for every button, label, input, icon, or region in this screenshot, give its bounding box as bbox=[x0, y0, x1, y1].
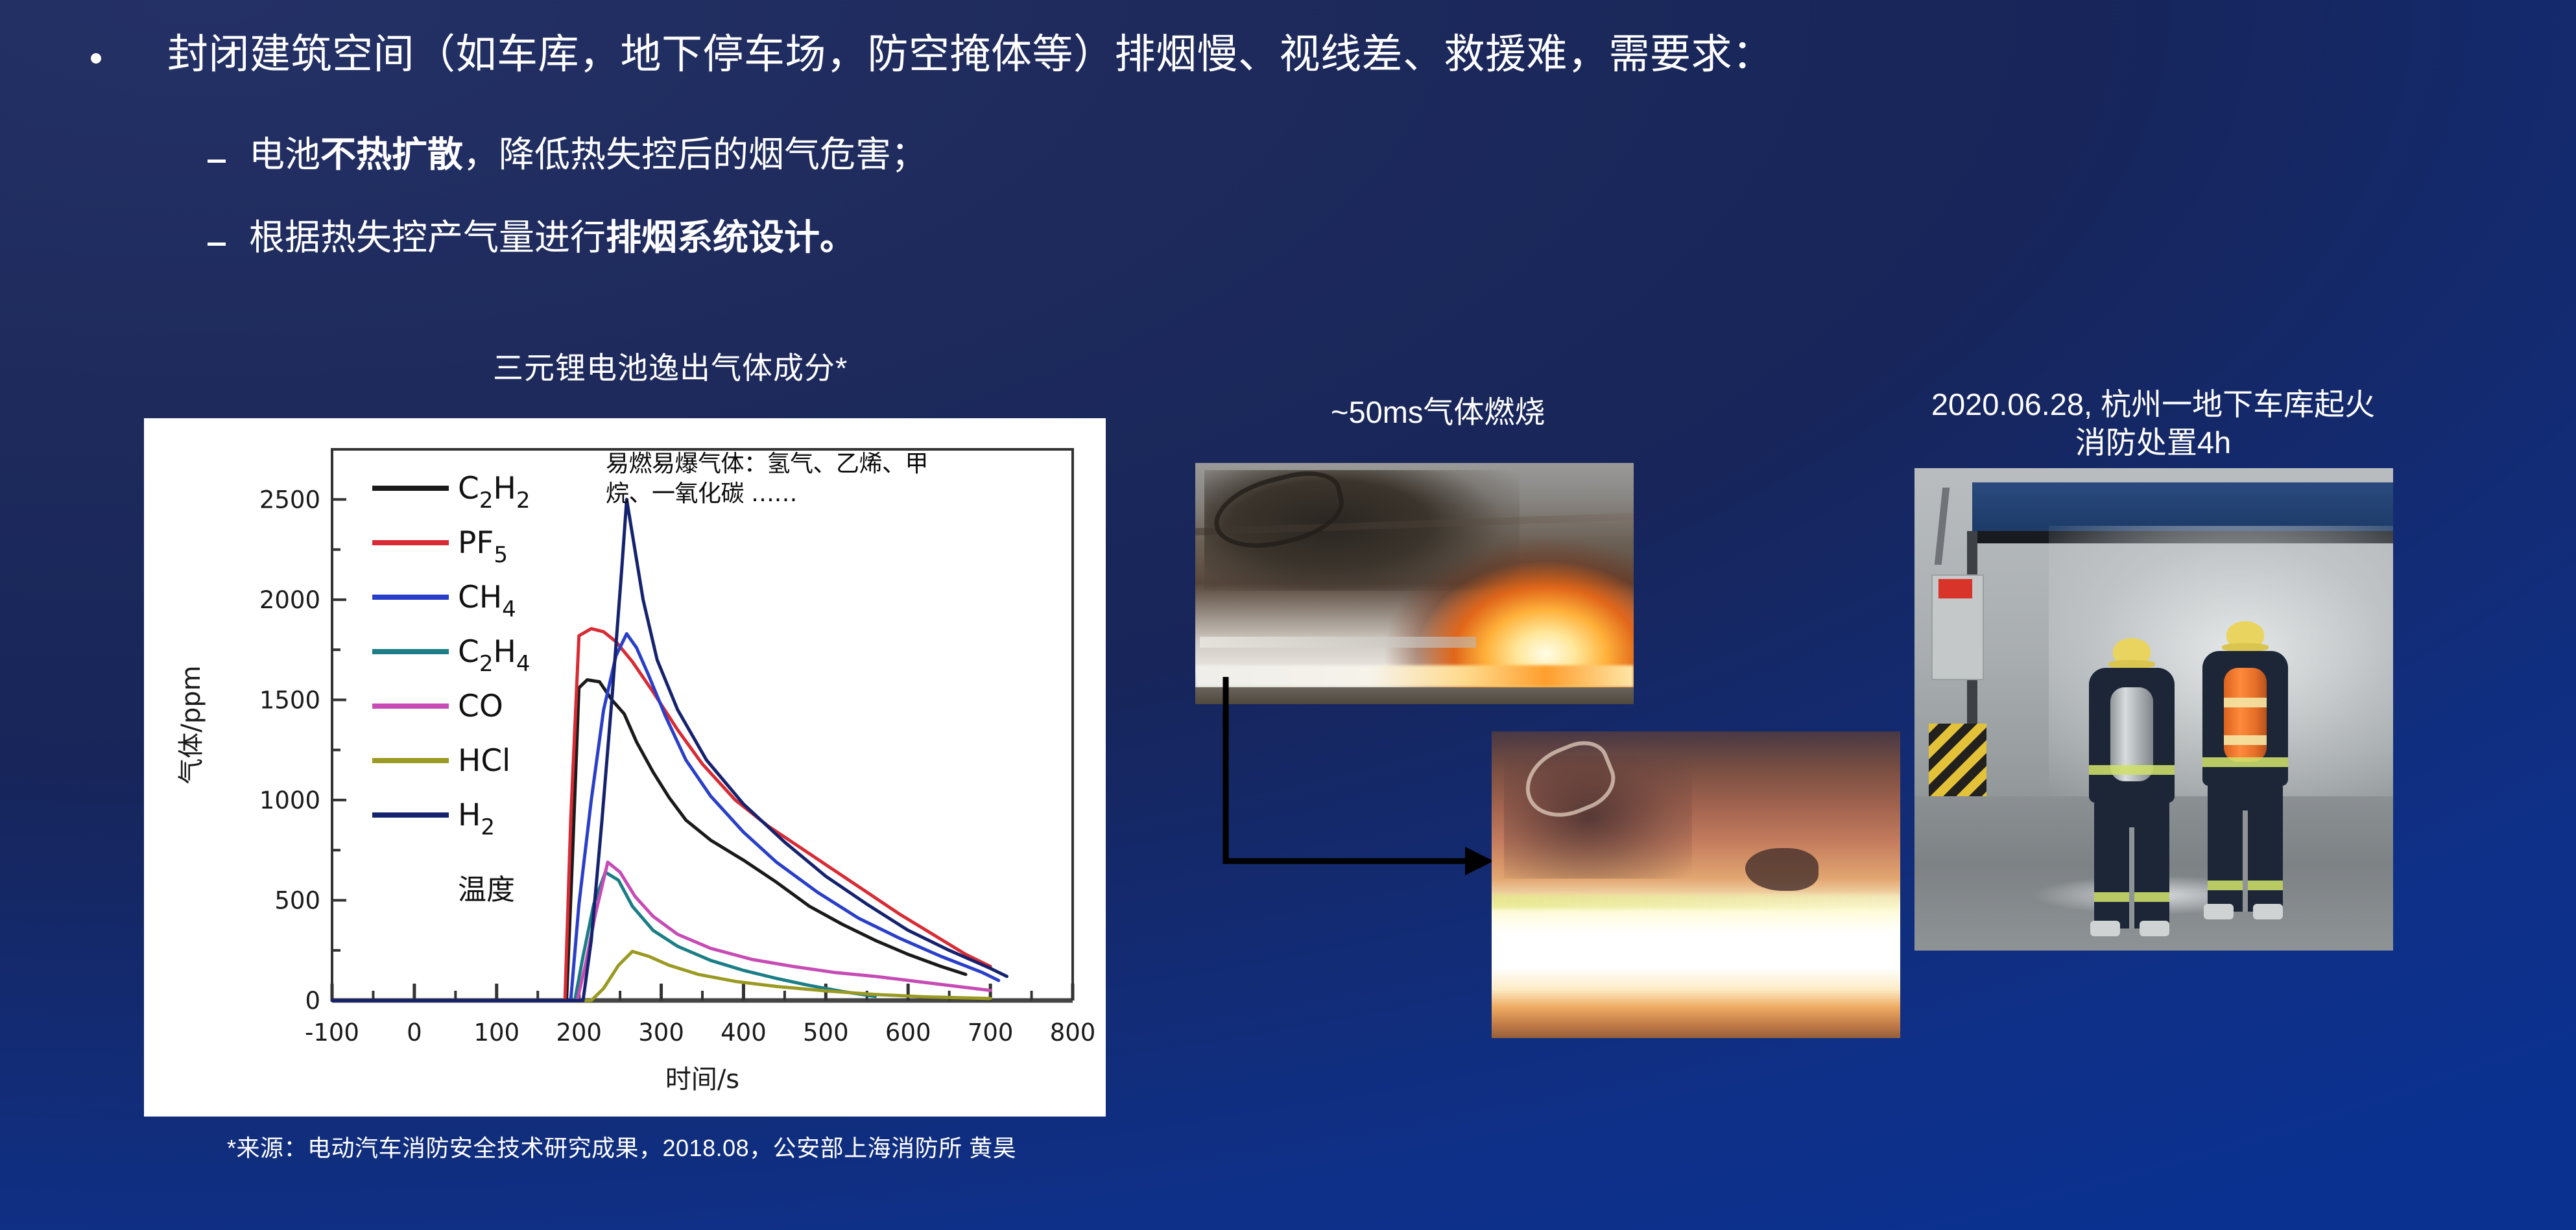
photo-flame-closeup bbox=[1492, 731, 1900, 1038]
svg-text:CO: CO bbox=[458, 689, 503, 724]
caption-gas-combustion: ~50ms气体燃烧 bbox=[1331, 387, 1545, 432]
svg-text:HCl: HCl bbox=[458, 743, 510, 779]
photo-firefighters-garage bbox=[1914, 468, 2393, 951]
bullet-level2-item-1: 电池不热扩散，降低热失控后的烟气危害； bbox=[208, 133, 927, 176]
boot bbox=[2204, 904, 2234, 919]
sub1-suffix: ，降低热失控后的烟气危害； bbox=[463, 134, 927, 174]
tank-reflective-band bbox=[2224, 698, 2267, 707]
photo2-green-flame-band bbox=[1492, 894, 1900, 910]
bullet-dot-icon bbox=[91, 53, 101, 64]
leg-gap bbox=[2129, 827, 2134, 928]
firefighter-left bbox=[2080, 638, 2184, 943]
caption-hangzhou-fire: 2020.06.28, 杭州一地下车库起火 消防处置4h bbox=[1868, 385, 2439, 462]
svg-text:PF5: PF5 bbox=[458, 525, 508, 568]
chart-annotation-text: 易燃易爆气体：氢气、乙烯、甲烷、一氧化碳 …… bbox=[606, 449, 969, 509]
photo3-ceiling-beam bbox=[1972, 482, 2393, 530]
svg-text:1000: 1000 bbox=[259, 786, 320, 814]
svg-text:800: 800 bbox=[1050, 1019, 1096, 1047]
photo3-exit-sign bbox=[1938, 579, 1972, 598]
leg-gap bbox=[2243, 810, 2248, 912]
bullet-level2-text-2: 根据热失控产气量进行排烟系统设计。 bbox=[249, 216, 855, 259]
bullet-level1-text: 封闭建筑空间（如车库，地下停车场，防空掩体等）排烟慢、视线差、救援难，需要求： bbox=[167, 30, 1774, 80]
svg-text:2500: 2500 bbox=[259, 486, 320, 514]
svg-text:1500: 1500 bbox=[259, 686, 320, 714]
svg-text:500: 500 bbox=[274, 886, 320, 914]
svg-text:0: 0 bbox=[407, 1019, 422, 1047]
svg-text:C2H2: C2H2 bbox=[458, 471, 530, 514]
dash-bullet-icon bbox=[208, 160, 226, 163]
svg-text:-100: -100 bbox=[305, 1019, 359, 1047]
caption-line-2: 消防处置4h bbox=[1868, 423, 2439, 462]
tank-reflective-band bbox=[2224, 735, 2267, 745]
svg-text:200: 200 bbox=[556, 1019, 602, 1047]
bullet-level1: 封闭建筑空间（如车库，地下停车场，防空掩体等）排烟慢、视线差、救援难，需要求： bbox=[91, 30, 1774, 80]
caption-line-1: 2020.06.28, 杭州一地下车库起火 bbox=[1868, 385, 2439, 423]
svg-text:700: 700 bbox=[968, 1019, 1014, 1047]
chart-plot-svg: 05001000150020002500-1000100200300400500… bbox=[144, 418, 1106, 1117]
svg-text:600: 600 bbox=[885, 1019, 931, 1047]
reflective-stripe bbox=[2089, 765, 2175, 775]
sub1-bold: 不热扩散 bbox=[320, 134, 463, 174]
svg-text:2000: 2000 bbox=[259, 586, 320, 614]
boot bbox=[2140, 921, 2169, 936]
gas-composition-chart: 05001000150020002500-1000100200300400500… bbox=[144, 418, 1106, 1117]
source-citation: *来源：电动汽车消防安全技术研究成果，2018.08，公安部上海消防所 黄昊 bbox=[227, 1129, 1016, 1163]
photo-underbody-gas-combustion bbox=[1195, 463, 1634, 704]
firefighter-right bbox=[2193, 621, 2297, 926]
chart-title: 三元锂电池逸出气体成分* bbox=[493, 343, 848, 388]
svg-text:CH4: CH4 bbox=[458, 580, 516, 622]
boot bbox=[2253, 904, 2283, 919]
bullet-level2-item-2: 根据热失控产气量进行排烟系统设计。 bbox=[208, 216, 855, 259]
boot bbox=[2090, 921, 2120, 936]
svg-text:100: 100 bbox=[473, 1019, 519, 1047]
svg-text:500: 500 bbox=[803, 1019, 849, 1047]
svg-text:时间/s: 时间/s bbox=[665, 1065, 739, 1094]
photo2-debris bbox=[1745, 848, 1819, 891]
svg-text:气体/ppm: 气体/ppm bbox=[176, 665, 206, 784]
bullet-level2-text-1: 电池不热扩散，降低热失控后的烟气危害； bbox=[249, 133, 927, 176]
svg-text:0: 0 bbox=[305, 987, 320, 1015]
svg-text:温度: 温度 bbox=[458, 873, 515, 906]
reflective-stripe bbox=[2202, 757, 2288, 767]
svg-text:H2: H2 bbox=[458, 798, 495, 840]
sub2-prefix: 根据热失控产气量进行 bbox=[249, 217, 606, 257]
connector-arrow bbox=[1190, 674, 1527, 947]
sub1-prefix: 电池 bbox=[249, 134, 320, 174]
svg-text:300: 300 bbox=[638, 1019, 684, 1047]
sub2-bold: 排烟系统设计。 bbox=[606, 217, 855, 257]
photo1-rail bbox=[1200, 637, 1476, 648]
air-tank bbox=[2224, 668, 2267, 762]
svg-text:400: 400 bbox=[721, 1019, 767, 1047]
dash-bullet-icon bbox=[208, 242, 226, 246]
svg-text:C2H4: C2H4 bbox=[458, 634, 530, 677]
